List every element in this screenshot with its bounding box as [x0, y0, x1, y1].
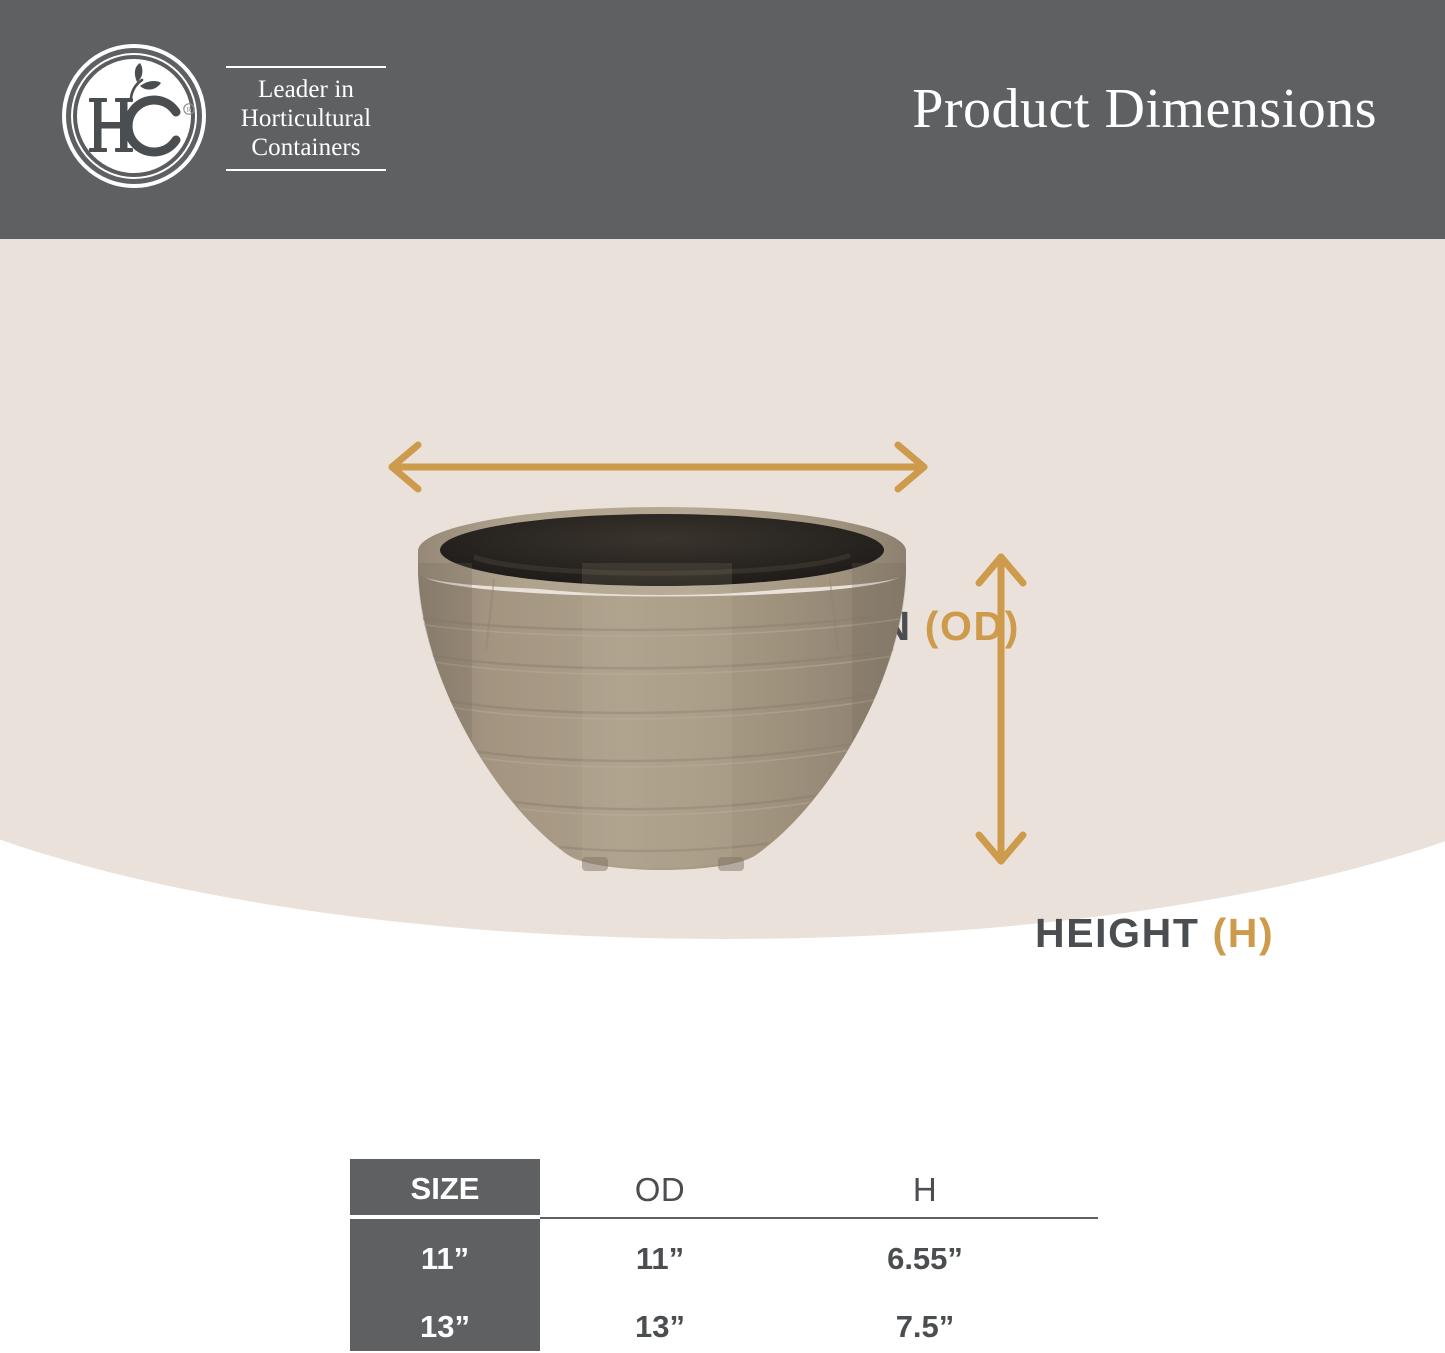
height-label: HEIGHT (H)	[1035, 910, 1274, 957]
table-row-size: 13”	[350, 1309, 540, 1345]
tagline-line-1: Leader in	[226, 75, 386, 104]
diagram-stage: OUTER DIMENSION (OD) HEIGHT	[0, 239, 1445, 959]
page-title: Product Dimensions	[912, 78, 1377, 140]
height-arrow-icon	[968, 544, 1034, 879]
table-header-rule	[540, 1217, 1098, 1219]
svg-text:R: R	[187, 106, 192, 114]
brand-logo: R Leader in Horticultural Containers	[60, 42, 386, 190]
header-bar: R Leader in Horticultural Containers Pro…	[0, 0, 1445, 239]
dimensions-table: SIZE OD H 11” 11” 6.55” 13” 13” 7.5”	[350, 1159, 1098, 1351]
table-row-od: 13”	[540, 1309, 780, 1345]
table-header-size: SIZE	[350, 1171, 540, 1207]
tagline-line-2: Horticultural	[226, 104, 386, 133]
height-label-text: HEIGHT	[1035, 910, 1200, 956]
tagline-rule-top	[226, 66, 386, 68]
table-row-h: 6.55”	[780, 1241, 1070, 1277]
outer-dimension-arrow-icon	[378, 437, 938, 502]
table-row-h: 7.5”	[780, 1309, 1070, 1345]
planter-product-image	[382, 501, 942, 886]
table-row-size: 11”	[350, 1241, 540, 1277]
hc-logo-icon: R	[60, 42, 208, 190]
table-header-h: H	[780, 1171, 1070, 1209]
brand-tagline: Leader in Horticultural Containers	[226, 62, 386, 171]
table-row-od: 11”	[540, 1241, 780, 1277]
table-header-od: OD	[540, 1171, 780, 1209]
tagline-line-3: Containers	[226, 133, 386, 162]
height-abbrev: (H)	[1213, 910, 1275, 956]
tagline-rule-bottom	[226, 169, 386, 171]
